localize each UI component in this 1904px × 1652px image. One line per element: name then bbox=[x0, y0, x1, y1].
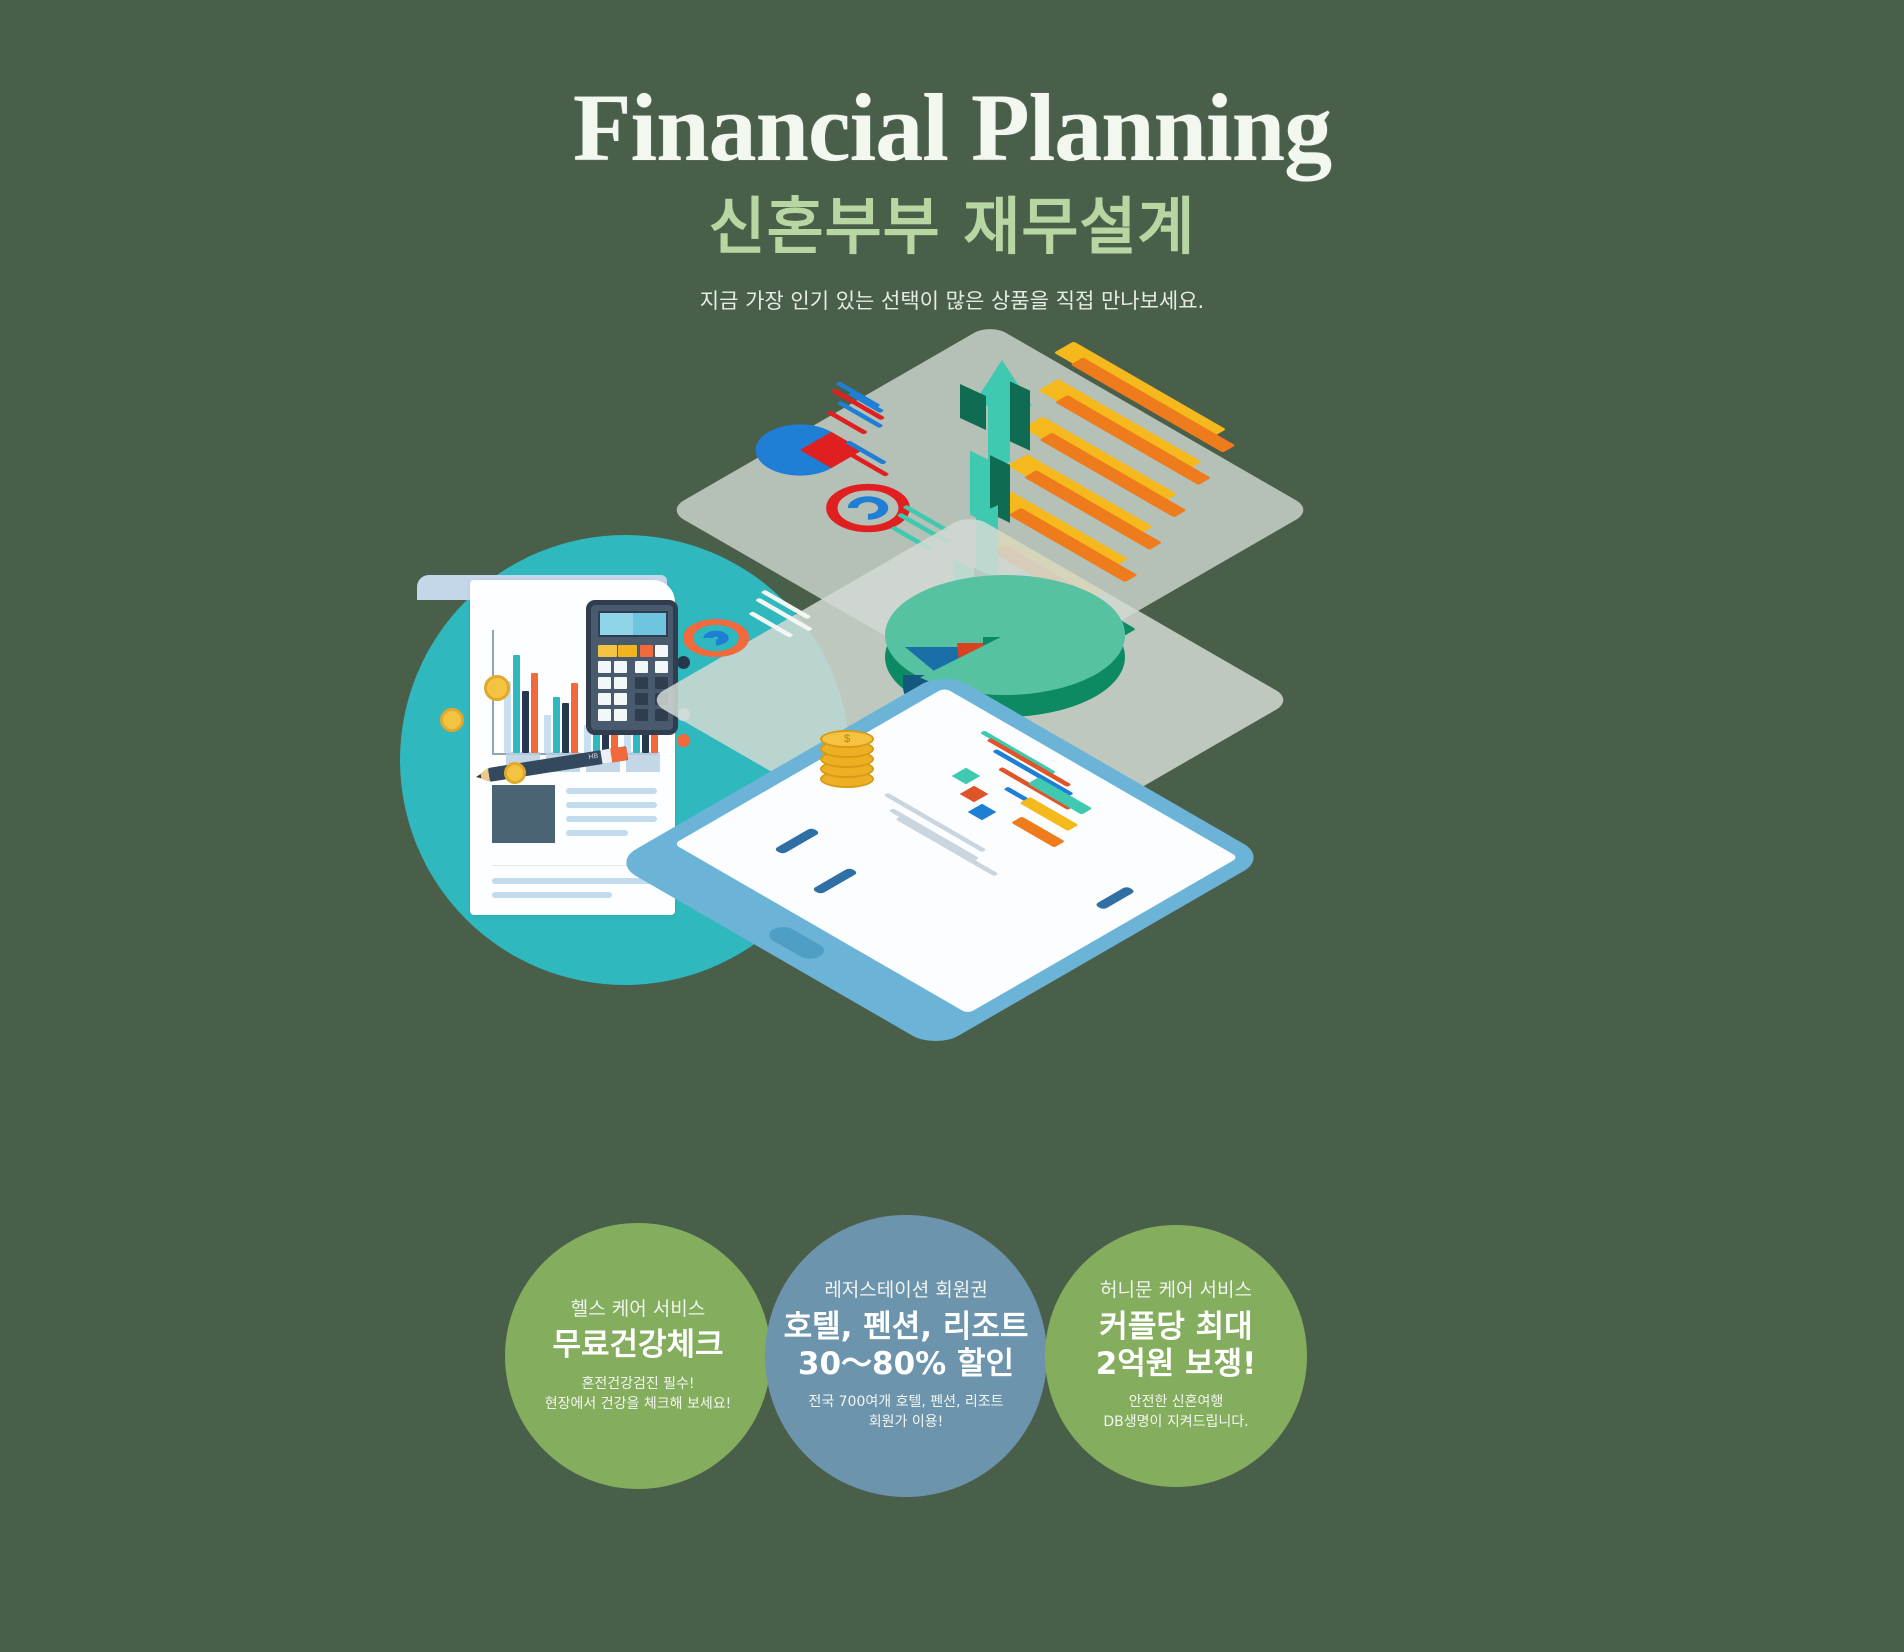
badge-desc-line: 안전한 신혼여행 bbox=[1103, 1392, 1248, 1412]
calculator-key bbox=[598, 645, 617, 657]
badge-title: 호텔, 펜션, 리조트 30〜80% 할인 bbox=[784, 1309, 1029, 1382]
document-image-block bbox=[492, 785, 555, 843]
gold-coin bbox=[504, 762, 526, 784]
gold-coins: $ bbox=[820, 730, 874, 790]
pencil-grade-label: HB bbox=[588, 753, 599, 761]
chart-bar bbox=[544, 715, 551, 753]
calculator-key bbox=[614, 693, 627, 705]
chart-bar bbox=[531, 673, 538, 753]
badge-title-line: 2억원 보쟁! bbox=[1096, 1346, 1257, 1383]
document-text-line bbox=[492, 878, 657, 884]
page-subtitle: 지금 가장 인기 있는 선택이 많은 상품을 직접 만나보세요. bbox=[0, 285, 1904, 315]
calculator-key bbox=[614, 709, 627, 721]
document-text-line bbox=[492, 892, 612, 898]
badge-title-line: 30〜80% 할인 bbox=[784, 1346, 1029, 1383]
badge-desc-line: 전국 700여개 호텔, 펜션, 리조트 bbox=[808, 1392, 1003, 1412]
badge-desc-line: 회원가 이용! bbox=[808, 1412, 1003, 1432]
calculator-key bbox=[618, 645, 637, 657]
calculator-key bbox=[614, 661, 627, 673]
badge-eyebrow: 헬스 케어 서비스 bbox=[571, 1298, 705, 1321]
badge-health-care[interactable]: 헬스 케어 서비스 무료건강체크 혼전건강검진 필수! 현장에서 건강을 체크해… bbox=[505, 1223, 771, 1489]
hero-illustration: HB bbox=[0, 330, 1904, 1030]
badge-desc-line: 현장에서 건강을 체크해 보세요! bbox=[545, 1394, 731, 1414]
badge-desc-line: DB생명이 지켜드립니다. bbox=[1103, 1412, 1248, 1432]
badge-description: 전국 700여개 호텔, 펜션, 리조트 회원가 이용! bbox=[808, 1392, 1003, 1433]
phone-home-button[interactable] bbox=[763, 924, 829, 962]
badge-desc-line: 혼전건강검진 필수! bbox=[545, 1374, 731, 1394]
benefit-badges: 헬스 케어 서비스 무료건강체크 혼전건강검진 필수! 현장에서 건강을 체크해… bbox=[0, 1215, 1904, 1515]
chart-bar bbox=[571, 683, 578, 753]
gold-coin bbox=[484, 675, 510, 701]
page-title-korean: 신혼부부 재무설계 bbox=[0, 193, 1904, 261]
arrow-shadow bbox=[1010, 381, 1030, 450]
badge-title-line: 커플당 최대 bbox=[1096, 1309, 1257, 1346]
calculator-key bbox=[598, 709, 611, 721]
page-title-english: Financial Planning bbox=[0, 78, 1904, 179]
gold-coin bbox=[440, 708, 464, 732]
badge-eyebrow: 허니문 케어 서비스 bbox=[1100, 1279, 1252, 1302]
calculator-key bbox=[598, 661, 611, 673]
poster-canvas: Financial Planning 신혼부부 재무설계 지금 가장 인기 있는… bbox=[0, 0, 1904, 1652]
calculator-key bbox=[598, 677, 611, 689]
badge-leisure-membership[interactable]: 레저스테이션 회원권 호텔, 펜션, 리조트 30〜80% 할인 전국 700여… bbox=[765, 1215, 1047, 1497]
badge-description: 안전한 신혼여행 DB생명이 지켜드립니다. bbox=[1103, 1392, 1248, 1433]
chart-bar bbox=[522, 691, 529, 753]
coin-top: $ bbox=[820, 730, 874, 748]
chart-bar bbox=[562, 703, 569, 753]
header: Financial Planning 신혼부부 재무설계 지금 가장 인기 있는… bbox=[0, 0, 1904, 315]
badge-honeymoon-care[interactable]: 허니문 케어 서비스 커플당 최대 2억원 보쟁! 안전한 신혼여행 DB생명이… bbox=[1045, 1225, 1307, 1487]
chart-bar bbox=[553, 697, 560, 753]
badge-description: 혼전건강검진 필수! 현장에서 건강을 체크해 보세요! bbox=[545, 1374, 731, 1415]
chart-bar bbox=[513, 655, 520, 753]
calculator-key bbox=[598, 693, 611, 705]
isometric-stack: $ bbox=[640, 320, 1400, 1020]
pencil-eraser bbox=[610, 746, 628, 762]
document-text-line bbox=[566, 830, 628, 836]
coin-symbol: $ bbox=[822, 732, 872, 746]
calculator-key bbox=[614, 677, 627, 689]
badge-eyebrow: 레저스테이션 회원권 bbox=[824, 1279, 987, 1302]
badge-title: 무료건강체크 bbox=[552, 1327, 723, 1364]
badge-title: 커플당 최대 2억원 보쟁! bbox=[1096, 1309, 1257, 1382]
pencil-lead bbox=[476, 774, 482, 779]
badge-title-line: 호텔, 펜션, 리조트 bbox=[784, 1309, 1029, 1346]
